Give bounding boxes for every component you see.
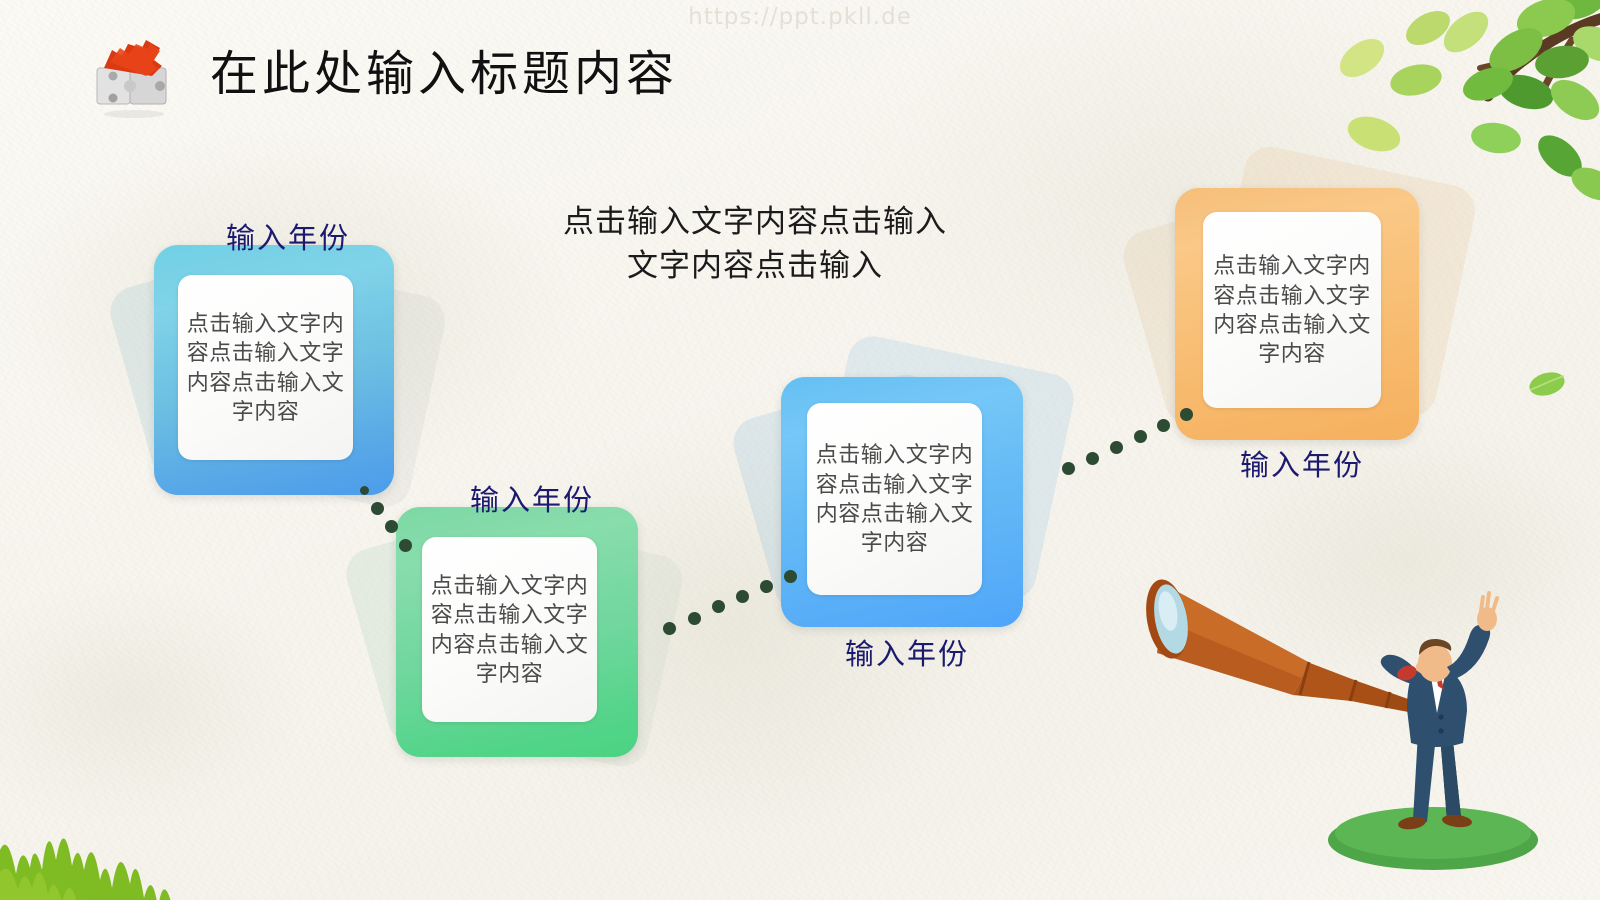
- connector-dot: [1134, 430, 1147, 443]
- card-2-body-text: 点击输入文字内容点击输入文字内容点击输入文字内容: [422, 571, 597, 689]
- connector-dot: [1086, 452, 1099, 465]
- connector-dot: [736, 590, 749, 603]
- connector-dot: [688, 612, 701, 625]
- connector-dot: [360, 486, 369, 495]
- card-2-inner-panel: 点击输入文字内容点击输入文字内容点击输入文字内容: [422, 537, 597, 722]
- connector-dot: [712, 600, 725, 613]
- connector-dot: [399, 539, 412, 552]
- grass-silhouette-icon: [0, 760, 1600, 900]
- card-1-body-text: 点击输入文字内容点击输入文字内容点击输入文字内容: [178, 309, 353, 427]
- card-4-body-text: 点击输入文字内容点击输入文字内容点击输入文字内容: [1203, 251, 1381, 369]
- card-3-inner-panel: 点击输入文字内容点击输入文字内容点击输入文字内容: [807, 403, 982, 595]
- card-group-2: 点击输入文字内容点击输入文字内容点击输入文字内容 输入年份: [360, 465, 690, 765]
- card-3-body-text: 点击输入文字内容点击输入文字内容点击输入文字内容: [807, 440, 982, 558]
- connector-dot: [1157, 419, 1170, 432]
- connector-dot: [1180, 408, 1193, 421]
- card-4-year-label[interactable]: 输入年份: [1240, 442, 1364, 484]
- floating-leaf-icon: [1522, 368, 1568, 400]
- connector-dot: [1110, 441, 1123, 454]
- connector-dot: [371, 502, 384, 515]
- connector-dot: [784, 570, 797, 583]
- slide-canvas: https://ppt.pkll.de 在此处输入标题内容 点击输入文字内容点击…: [0, 0, 1600, 900]
- card-group-4: 点击输入文字内容点击输入文字内容点击输入文字内容 输入年份: [1135, 150, 1475, 490]
- center-caption: 点击输入文字内容点击输入文字内容点击输入: [560, 200, 950, 288]
- watermark-url: https://ppt.pkll.de: [0, 4, 1600, 30]
- card-1-inner-panel: 点击输入文字内容点击输入文字内容点击输入文字内容: [178, 275, 353, 460]
- page-title: 在此处输入标题内容: [210, 34, 678, 104]
- card-4-inner-panel: 点击输入文字内容点击输入文字内容点击输入文字内容: [1203, 212, 1381, 408]
- card-1-year-label[interactable]: 输入年份: [226, 215, 350, 257]
- puzzle-piece-icon: [88, 28, 180, 120]
- card-group-3: 点击输入文字内容点击输入文字内容点击输入文字内容 输入年份: [745, 335, 1075, 675]
- card-2-year-label[interactable]: 输入年份: [470, 477, 594, 519]
- connector-dot: [385, 520, 398, 533]
- connector-dot: [1062, 462, 1075, 475]
- connector-dot: [760, 580, 773, 593]
- card-3-year-label[interactable]: 输入年份: [845, 631, 969, 673]
- connector-dot: [663, 622, 676, 635]
- card-group-1: 点击输入文字内容点击输入文字内容点击输入文字内容 输入年份: [120, 205, 450, 505]
